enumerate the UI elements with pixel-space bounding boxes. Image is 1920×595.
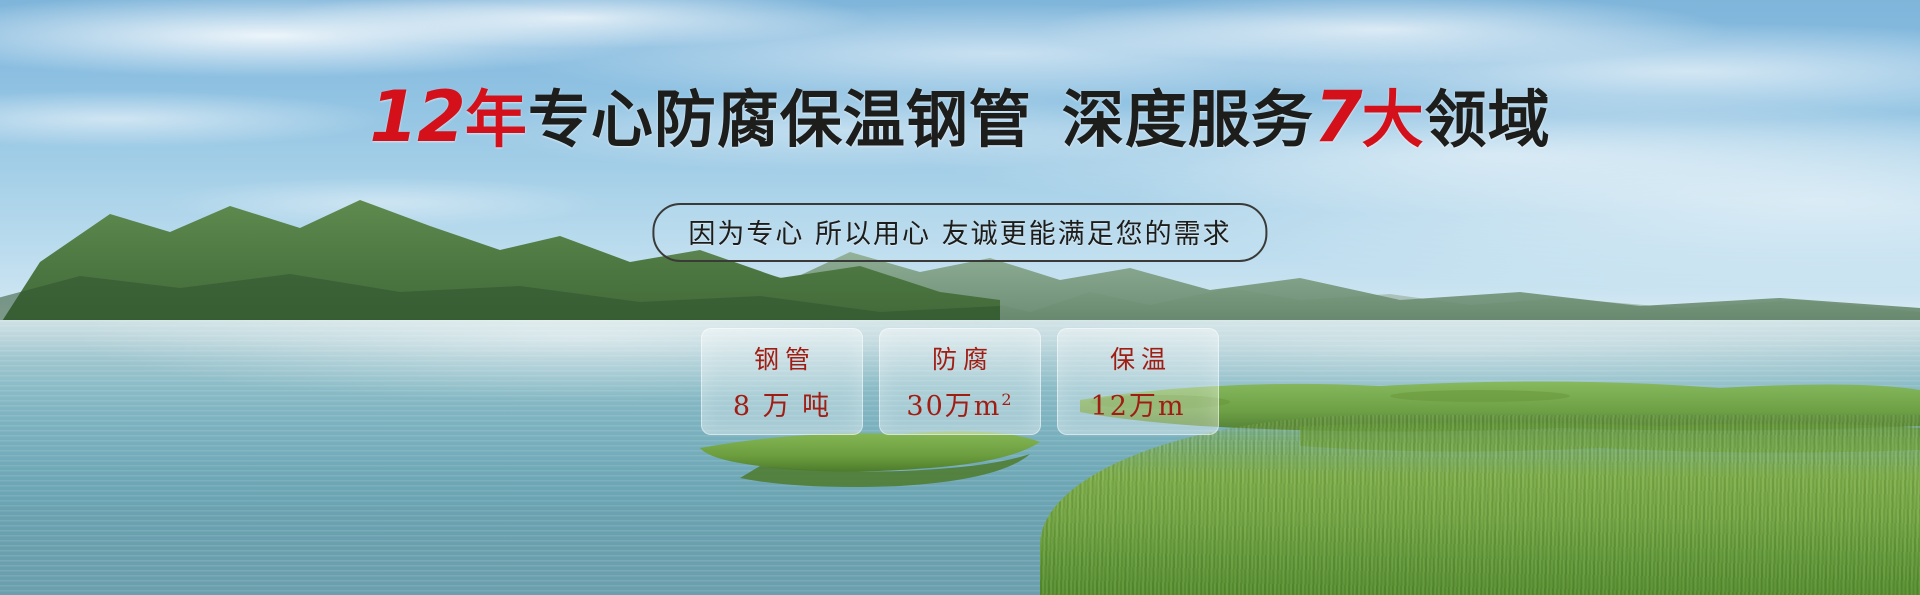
hero-banner: 12年专心防腐保温钢管深度服务7大领域 因为专心 所以用心 友诚更能满足您的需求…	[0, 0, 1920, 595]
stat-card-group: 钢管 8 万 吨 防腐 30万m2 保温 12万m	[701, 328, 1219, 435]
headline-fields-unit: 大	[1362, 83, 1425, 156]
headline-main-text: 专心防腐保温钢管	[528, 83, 1032, 156]
stat-card-title: 钢管	[748, 340, 816, 376]
stat-card-insulation: 保温 12万m	[1057, 328, 1219, 435]
headline-service-text: 深度服务	[1062, 83, 1314, 156]
stat-card-anticorrosion: 防腐 30万m2	[879, 328, 1041, 435]
stat-card-value-superscript: 2	[1001, 390, 1013, 409]
headline-years-unit: 年	[465, 83, 528, 156]
stat-card-title: 保温	[1104, 340, 1172, 376]
headline-fields-text: 领域	[1425, 83, 1551, 156]
headline-fields-number: 7	[1314, 76, 1362, 158]
stat-card-title: 防腐	[926, 340, 994, 376]
stat-card-value: 8 万 吨	[733, 384, 831, 423]
headline-years-number: 12	[369, 76, 464, 158]
stat-card-value-text: 30万m	[906, 391, 1001, 422]
stat-card-value-text: 8 万 吨	[733, 391, 831, 422]
subtitle-pill: 因为专心 所以用心 友诚更能满足您的需求	[652, 203, 1267, 262]
subtitle-pill-text: 因为专心 所以用心 友诚更能满足您的需求	[688, 219, 1231, 250]
stat-card-value: 30万m2	[906, 384, 1013, 423]
stat-card-value: 12万m	[1091, 384, 1186, 423]
banner-headline: 12年专心防腐保温钢管深度服务7大领域	[0, 82, 1920, 152]
stat-card-value-text: 12万m	[1091, 391, 1186, 422]
banner-content: 12年专心防腐保温钢管深度服务7大领域 因为专心 所以用心 友诚更能满足您的需求…	[0, 0, 1920, 595]
stat-card-steel-pipe: 钢管 8 万 吨	[701, 328, 863, 435]
